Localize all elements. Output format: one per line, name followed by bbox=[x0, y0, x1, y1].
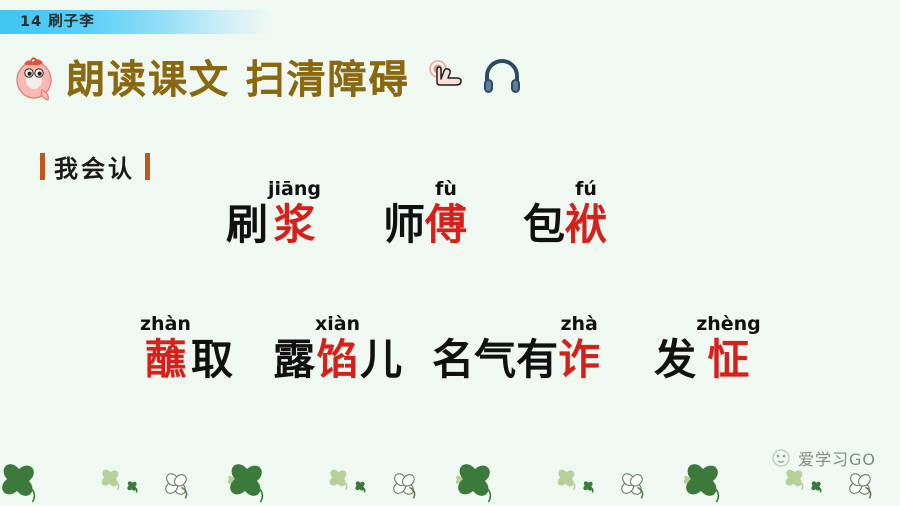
character-cell[interactable]: 露 bbox=[273, 313, 315, 383]
section-title-row: 朗读课文 扫清障碍 bbox=[12, 47, 522, 107]
pinyin-label: fú bbox=[575, 178, 597, 202]
character-cell[interactable]: 有 bbox=[516, 313, 558, 383]
pinyin-label bbox=[541, 178, 548, 202]
hanzi-character[interactable]: 怔 bbox=[707, 337, 749, 383]
pinyin-label bbox=[534, 313, 541, 337]
pinyin-label bbox=[672, 313, 679, 337]
clover-decoration-band bbox=[0, 440, 900, 506]
character-cell[interactable]: zhàn蘸 bbox=[140, 313, 191, 383]
subsection-heading: 我会认 bbox=[40, 149, 150, 183]
word-group[interactable]: 师fù傅 bbox=[383, 178, 467, 248]
pinyin-label bbox=[244, 178, 251, 202]
character-cell[interactable]: 刷 bbox=[226, 178, 268, 248]
character-cell[interactable]: 名 bbox=[432, 313, 474, 383]
character-cell[interactable]: 取 bbox=[191, 313, 233, 383]
page-title: 朗读课文 扫清障碍 bbox=[66, 49, 410, 105]
pinyin-label: zhàn bbox=[140, 313, 191, 337]
clover-logo-icon bbox=[770, 447, 792, 469]
pinyin-label: zhèng bbox=[696, 313, 761, 337]
hanzi-character[interactable]: 发 bbox=[654, 337, 696, 383]
hanzi-character[interactable]: 蘸 bbox=[144, 337, 186, 383]
lesson-title: 14 刷子李 bbox=[20, 11, 95, 33]
character-cell[interactable]: 气 bbox=[474, 313, 516, 383]
word-group[interactable]: 露xiàn馅 儿 bbox=[273, 313, 402, 383]
hanzi-character[interactable]: 师 bbox=[383, 202, 425, 248]
slide-canvas: 14 刷子李 朗读课文 扫清障碍 bbox=[0, 0, 900, 506]
character-cell[interactable]: zhà诈 bbox=[558, 313, 600, 383]
character-cell[interactable]: 发 bbox=[654, 313, 696, 383]
pinyin-label bbox=[291, 313, 298, 337]
character-cell[interactable]: zhèng怔 bbox=[696, 313, 761, 383]
character-cell[interactable]: 师 bbox=[383, 178, 425, 248]
headphones-icon[interactable] bbox=[482, 57, 522, 97]
watermark: 爱学习GO bbox=[770, 446, 876, 470]
pinyin-label bbox=[401, 178, 408, 202]
pinyin-label: fù bbox=[435, 178, 457, 202]
hanzi-character[interactable]: 袱 bbox=[565, 202, 607, 248]
word-group[interactable]: zhàn蘸 取 bbox=[140, 313, 233, 383]
pinyin-label bbox=[450, 313, 457, 337]
hanzi-character[interactable]: 气 bbox=[474, 337, 516, 383]
hanzi-character[interactable]: 取 bbox=[191, 337, 233, 383]
accent-bar-right bbox=[145, 153, 150, 180]
word-group[interactable]: 发zhèng怔 bbox=[654, 313, 761, 383]
word-group[interactable]: 名 气 有zhà诈 bbox=[432, 313, 600, 383]
hanzi-character[interactable]: 诈 bbox=[558, 337, 600, 383]
word-group[interactable]: 包fú袱 bbox=[523, 178, 607, 248]
tap-hand-icon[interactable] bbox=[426, 58, 468, 96]
word-row-1: 刷jiāng浆 师fù傅 包fú袱 bbox=[226, 178, 607, 248]
pinyin-label: zhà bbox=[560, 313, 597, 337]
character-cell[interactable]: fú袱 bbox=[565, 178, 607, 248]
character-cell[interactable]: xiàn馅 bbox=[315, 313, 360, 383]
word-group[interactable]: 刷jiāng浆 bbox=[226, 178, 321, 248]
watermark-text: 爱学习GO bbox=[798, 446, 876, 470]
hanzi-character[interactable]: 儿 bbox=[360, 337, 402, 383]
hanzi-character[interactable]: 露 bbox=[273, 337, 315, 383]
hanzi-character[interactable]: 浆 bbox=[274, 202, 316, 248]
character-cell[interactable]: 包 bbox=[523, 178, 565, 248]
q-mascot-icon bbox=[12, 52, 58, 102]
pinyin-label bbox=[378, 313, 385, 337]
character-cell[interactable]: jiāng浆 bbox=[268, 178, 321, 248]
word-row-2: zhàn蘸 取 露xiàn馅 儿 名 气 有zhà诈 发zhèng怔 bbox=[140, 313, 761, 383]
hanzi-character[interactable]: 名 bbox=[432, 337, 474, 383]
hanzi-character[interactable]: 有 bbox=[516, 337, 558, 383]
hanzi-character[interactable]: 刷 bbox=[226, 202, 268, 248]
hanzi-character[interactable]: 馅 bbox=[317, 337, 359, 383]
pinyin-label bbox=[492, 313, 499, 337]
character-cell[interactable]: 儿 bbox=[360, 313, 402, 383]
pinyin-label bbox=[209, 313, 216, 337]
character-cell[interactable]: fù傅 bbox=[425, 178, 467, 248]
hanzi-character[interactable]: 包 bbox=[523, 202, 565, 248]
pinyin-label: xiàn bbox=[315, 313, 360, 337]
hanzi-character[interactable]: 傅 bbox=[425, 202, 467, 248]
subsection-label: 我会认 bbox=[45, 149, 145, 184]
pinyin-label: jiāng bbox=[268, 178, 321, 202]
